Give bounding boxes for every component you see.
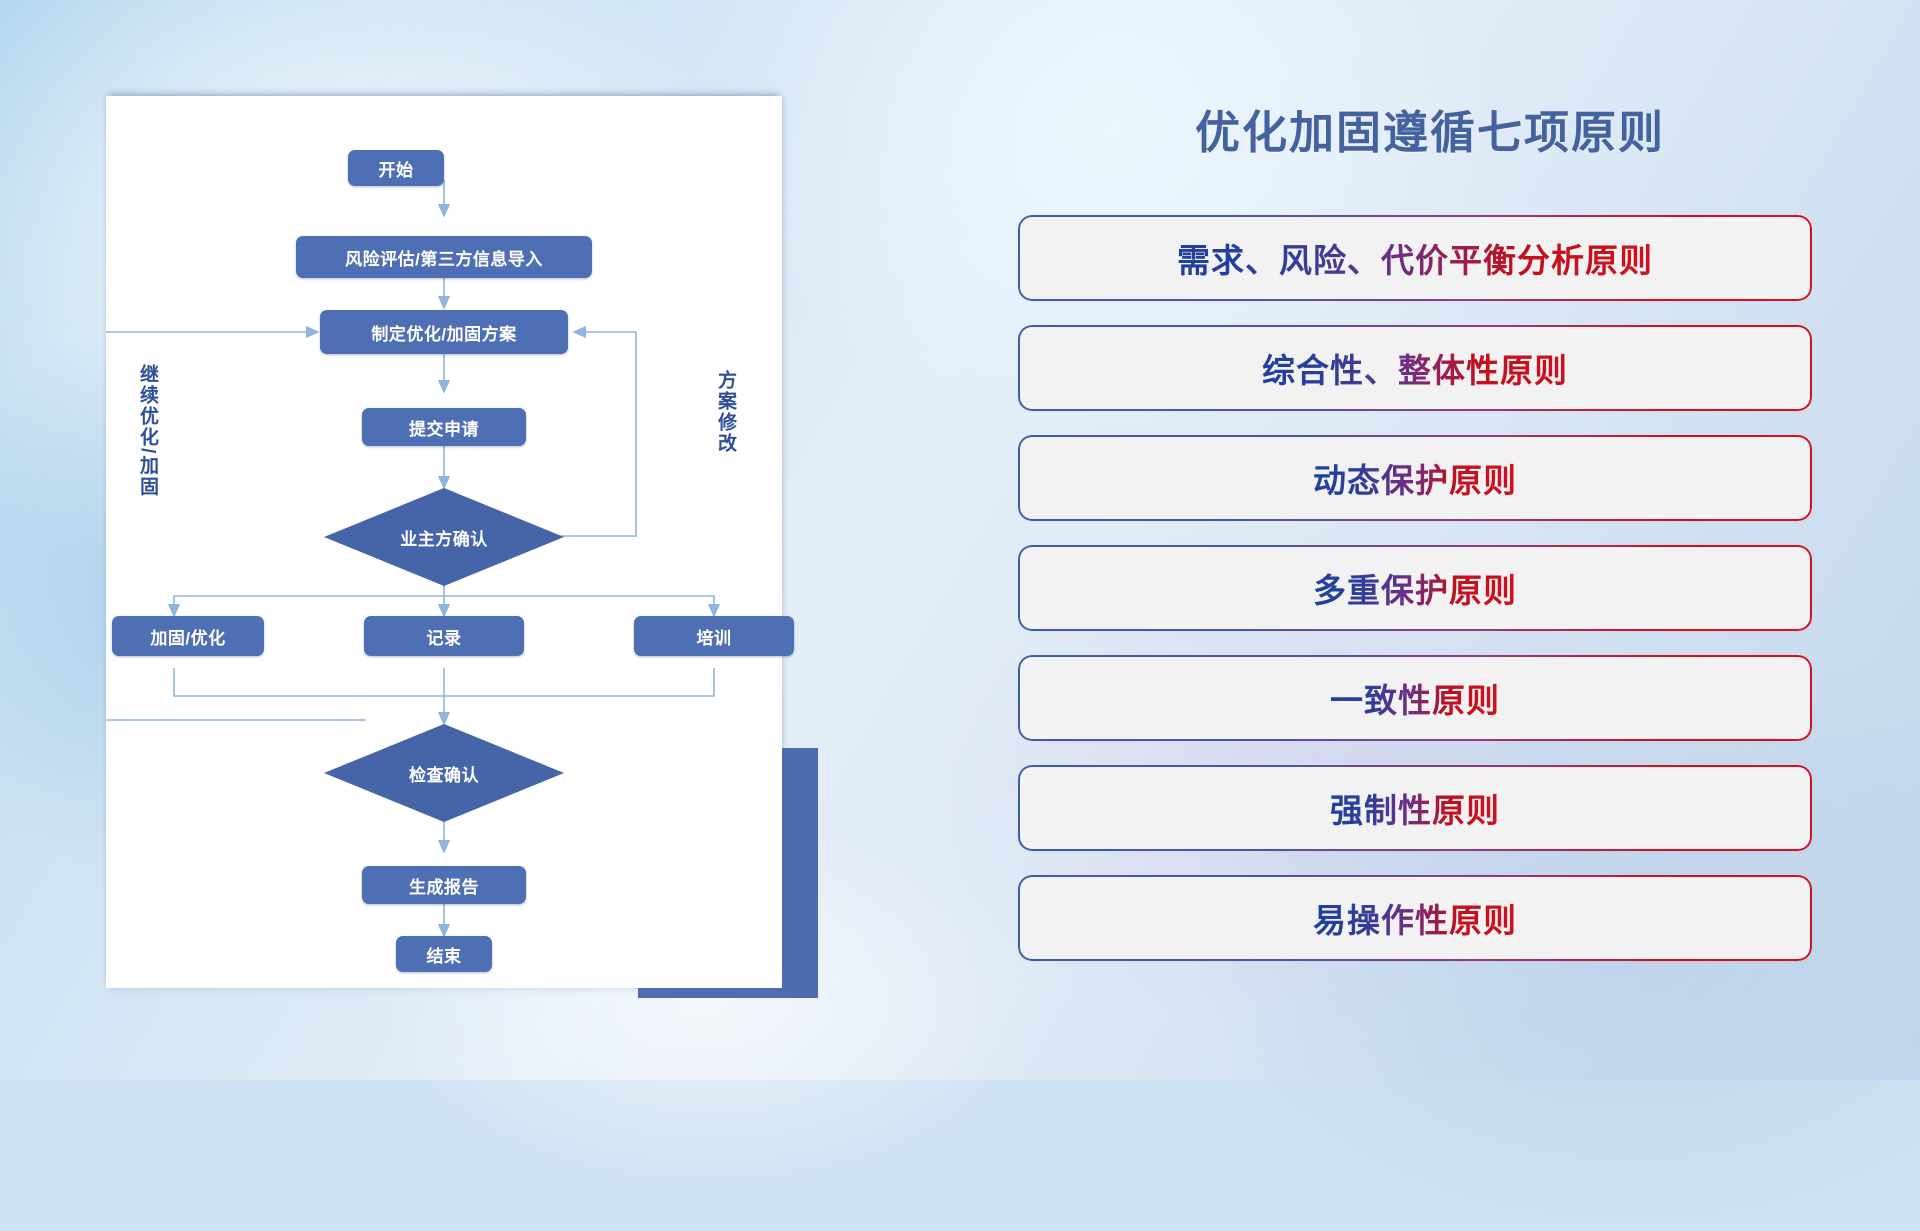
principle-card-5[interactable]: 一致性原则 (1020, 657, 1810, 739)
principles-section: 优化加固遵循七项原则 需求、风险、代价平衡分析原则 综合性、整体性原则 动态保护… (1020, 96, 1840, 987)
principle-card-2[interactable]: 综合性、整体性原则 (1020, 327, 1810, 409)
flow-edge-label-continue-optimize: 继续优化/加固 (134, 364, 161, 497)
flow-node-inspection-confirmation[interactable]: 检查确认 (324, 724, 564, 822)
flow-node-record[interactable]: 记录 (364, 616, 524, 656)
flow-node-training[interactable]: 培训 (634, 616, 794, 656)
principle-card-2-label: 综合性、整体性原则 (1262, 344, 1568, 392)
flow-node-generate-report[interactable]: 生成报告 (362, 866, 526, 904)
flow-node-risk-assessment[interactable]: 风险评估/第三方信息导入 (296, 236, 592, 278)
flow-node-owner-confirmation[interactable]: 业主方确认 (324, 488, 564, 586)
principle-card-1-label: 需求、风险、代价平衡分析原则 (1177, 234, 1653, 282)
principle-card-6-label: 强制性原则 (1330, 784, 1500, 832)
flow-node-end[interactable]: 结束 (396, 936, 492, 972)
principle-card-3[interactable]: 动态保护原则 (1020, 437, 1810, 519)
flow-node-start[interactable]: 开始 (348, 150, 444, 186)
flow-node-reinforce-optimize[interactable]: 加固/优化 (112, 616, 264, 656)
principle-card-7-label: 易操作性原则 (1313, 894, 1517, 942)
principle-card-4-label: 多重保护原则 (1313, 564, 1517, 612)
principle-card-4[interactable]: 多重保护原则 (1020, 547, 1810, 629)
flow-node-plan[interactable]: 制定优化/加固方案 (320, 310, 568, 354)
principle-card-6[interactable]: 强制性原则 (1020, 767, 1810, 849)
principle-card-3-label: 动态保护原则 (1313, 454, 1517, 502)
principle-card-1[interactable]: 需求、风险、代价平衡分析原则 (1020, 217, 1810, 299)
principle-card-5-label: 一致性原则 (1330, 674, 1500, 722)
accent-block-vertical (782, 748, 818, 998)
flow-node-submit-application[interactable]: 提交申请 (362, 408, 526, 446)
page-title: 优化加固遵循七项原则 (1020, 96, 1840, 161)
principle-card-7[interactable]: 易操作性原则 (1020, 877, 1810, 959)
flow-node-inspection-confirmation-label: 检查确认 (324, 724, 564, 822)
flowchart-white-panel: 开始 风险评估/第三方信息导入 制定优化/加固方案 提交申请 业主方确认 加固/… (106, 96, 782, 988)
flow-node-owner-confirmation-label: 业主方确认 (324, 488, 564, 586)
flow-edge-label-plan-revision: 方案修改 (712, 370, 739, 454)
